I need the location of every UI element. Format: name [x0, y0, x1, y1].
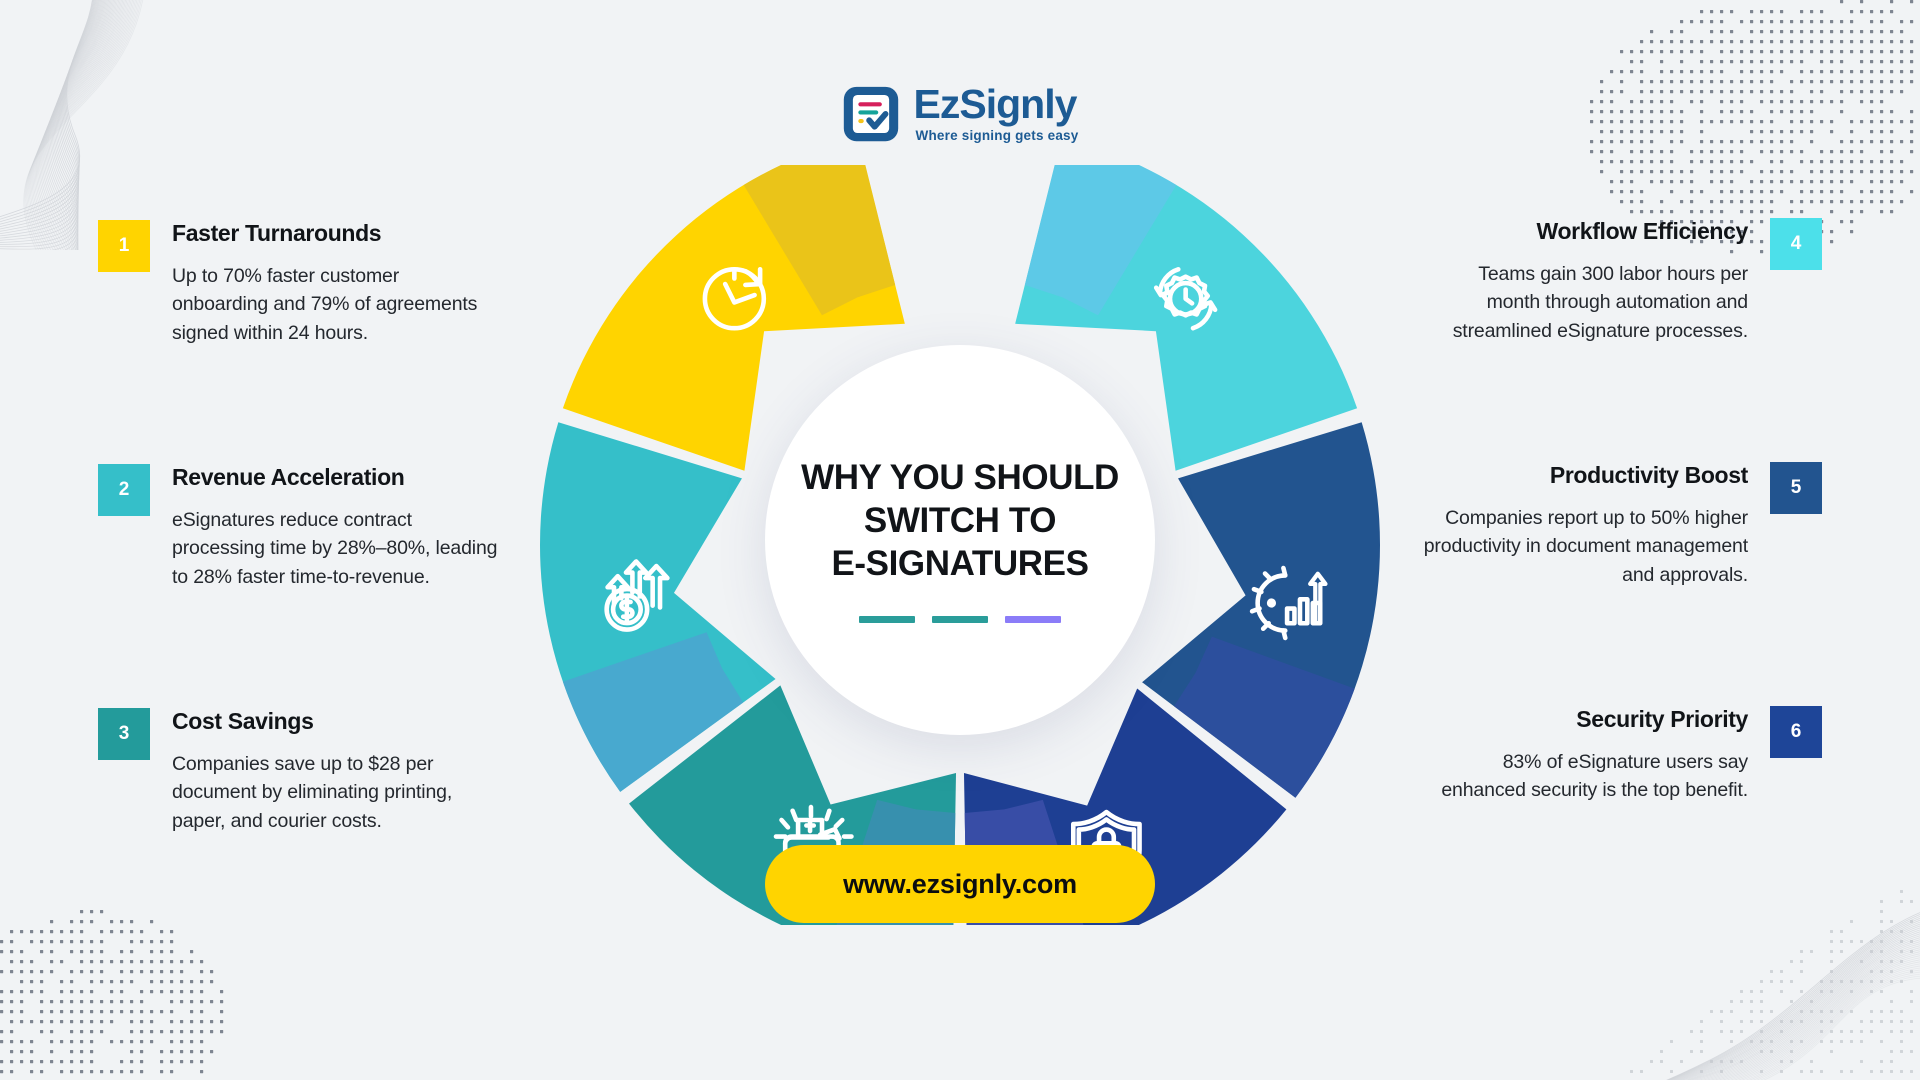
benefit-item-5: 5 Productivity Boost Companies report up…: [1422, 462, 1822, 590]
title-dash-2: [932, 616, 988, 623]
benefit-badge-4: 4: [1770, 218, 1822, 270]
logo-tagline: Where signing gets easy: [914, 128, 1079, 143]
benefit-title-4: Workflow Efficiency: [1422, 218, 1748, 246]
benefit-description-5: Companies report up to 50% higher produc…: [1422, 504, 1748, 591]
logo-text: EzSignly Where signing gets easy: [914, 84, 1079, 143]
benefit-text-3: Cost Savings Companies save up to $28 pe…: [172, 708, 498, 836]
benefit-title-2: Revenue Acceleration: [172, 464, 498, 492]
dot-grid-bottom-left-decoration: [0, 850, 300, 1080]
benefit-item-6: 6 Security Priority 83% of eSignature us…: [1422, 706, 1822, 805]
benefit-description-3: Companies save up to $28 per document by…: [172, 750, 498, 837]
benefit-text-2: Revenue Acceleration eSignatures reduce …: [172, 464, 498, 592]
benefit-badge-6: 6: [1770, 706, 1822, 758]
benefit-item-1: 1 Faster Turnarounds Up to 70% faster cu…: [98, 220, 498, 348]
benefit-item-2: 2 Revenue Acceleration eSignatures reduc…: [98, 464, 498, 592]
benefit-text-4: Workflow Efficiency Teams gain 300 labor…: [1422, 218, 1748, 346]
benefit-badge-1: 1: [98, 220, 150, 272]
benefit-title-1: Faster Turnarounds: [172, 220, 498, 248]
website-cta-button[interactable]: www.ezsignly.com: [765, 845, 1155, 923]
benefit-badge-3: 3: [98, 708, 150, 760]
benefit-description-6: 83% of eSignature users say enhanced sec…: [1422, 748, 1748, 806]
benefit-title-3: Cost Savings: [172, 708, 498, 736]
logo-wordmark: EzSignly: [914, 84, 1077, 125]
title-dash-3: [1005, 616, 1061, 623]
benefit-badge-2: 2: [98, 464, 150, 516]
benefit-text-1: Faster Turnarounds Up to 70% faster cust…: [172, 220, 498, 348]
title-dash-1: [859, 616, 915, 623]
website-cta-label: www.ezsignly.com: [843, 869, 1077, 900]
benefit-title-5: Productivity Boost: [1422, 462, 1748, 490]
infographic-page: EzSignly Where signing gets easy: [0, 0, 1920, 1080]
benefit-text-5: Productivity Boost Companies report up t…: [1422, 462, 1748, 590]
benefit-description-2: eSignatures reduce contract processing t…: [172, 506, 498, 593]
benefit-description-1: Up to 70% faster customer onboarding and…: [172, 262, 498, 349]
benefit-title-6: Security Priority: [1422, 706, 1748, 734]
title-accent-dashes: [859, 616, 1061, 623]
benefit-badge-5: 5: [1770, 462, 1822, 514]
center-circle: WHY YOU SHOULDSWITCH TOE-SIGNATURES: [765, 345, 1155, 735]
page-title: WHY YOU SHOULDSWITCH TOE-SIGNATURES: [801, 457, 1119, 585]
benefit-text-6: Security Priority 83% of eSignature user…: [1422, 706, 1748, 805]
document-checkmark-icon: [842, 85, 900, 143]
benefit-item-4: 4 Workflow Efficiency Teams gain 300 lab…: [1422, 218, 1822, 346]
dot-grid-bottom-right-decoration: [1580, 860, 1920, 1080]
benefit-description-4: Teams gain 300 labor hours per month thr…: [1422, 260, 1748, 347]
wave-lines-bottom-right-decoration: [1560, 860, 1920, 1080]
brand-logo: EzSignly Where signing gets easy: [0, 84, 1920, 143]
benefit-item-3: 3 Cost Savings Companies save up to $28 …: [98, 708, 498, 836]
